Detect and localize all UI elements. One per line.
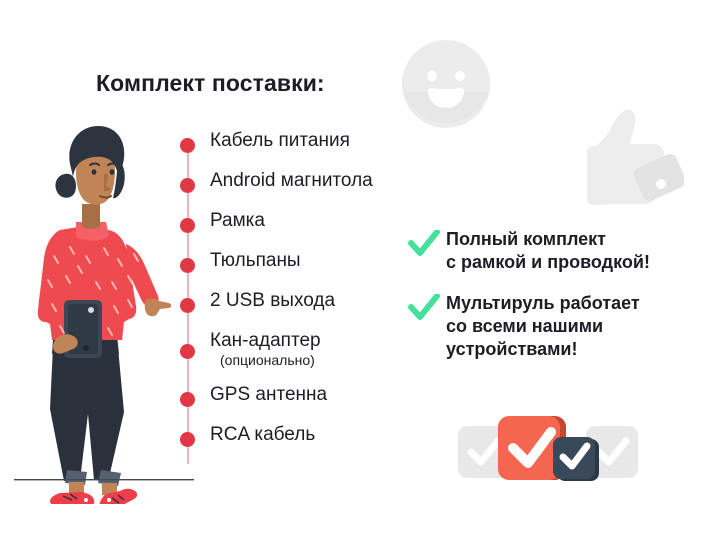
list-item-label: Кан-адаптер <box>210 330 321 352</box>
bullet-dot-icon <box>180 178 195 193</box>
bullet-dot-icon <box>180 344 195 359</box>
ground-line <box>14 478 194 482</box>
list-item: Кабель питания <box>178 130 438 170</box>
claim-text: Полный комплект с рамкой и проводкой! <box>446 228 698 274</box>
pointing-woman-illustration <box>8 104 176 504</box>
list-item: GPS антенна <box>178 384 438 424</box>
list-item-label: Android магнитола <box>210 170 373 192</box>
avito-watermark-logo: Avito <box>614 500 710 526</box>
claim-item: Мультируль работает со всеми нашими устр… <box>408 292 698 361</box>
claim-item: Полный комплект с рамкой и проводкой! <box>408 228 698 274</box>
bullet-dot-icon <box>180 392 195 407</box>
list-item: Android магнитола <box>178 170 438 210</box>
bullet-dot-icon <box>180 298 195 313</box>
avito-wordmark: Avito <box>644 504 693 526</box>
list-item: RCA кабель <box>178 424 438 464</box>
bullet-dot-icon <box>180 432 195 447</box>
claims-block: Полный комплект с рамкой и проводкой! Му… <box>408 228 698 375</box>
list-item-label: GPS антенна <box>210 384 327 406</box>
list-item-label: RCA кабель <box>210 424 315 446</box>
claim-text: Мультируль работает со всеми нашими устр… <box>446 292 698 361</box>
page-title: Комплект поставки: <box>96 70 325 97</box>
list-item-label: Кабель питания <box>210 130 350 152</box>
smiley-face-icon <box>398 36 494 132</box>
checkbox-cluster-icon <box>458 408 638 492</box>
bullet-dot-icon <box>180 138 195 153</box>
list-item: Рамка <box>178 210 438 250</box>
bullet-dot-icon <box>180 258 195 273</box>
list-item: Кан-адаптер (опционально) <box>178 330 438 370</box>
bullet-dot-icon <box>180 218 195 233</box>
list-item-label: 2 USB выхода <box>210 290 335 312</box>
list-item-label: Тюльпаны <box>210 250 301 272</box>
check-mark-icon <box>408 230 440 258</box>
list-item: Тюльпаны <box>178 250 438 290</box>
package-contents-list: Кабель питания Android магнитола Рамка Т… <box>178 130 438 464</box>
list-item-label: Рамка <box>210 210 265 232</box>
check-mark-icon <box>408 294 440 322</box>
thumbs-up-icon <box>566 100 684 216</box>
list-item-sublabel: (опционально) <box>220 352 315 368</box>
list-item: 2 USB выхода <box>178 290 438 330</box>
promo-banner: Комплект поставки: Кабель питания Androi… <box>0 0 720 540</box>
